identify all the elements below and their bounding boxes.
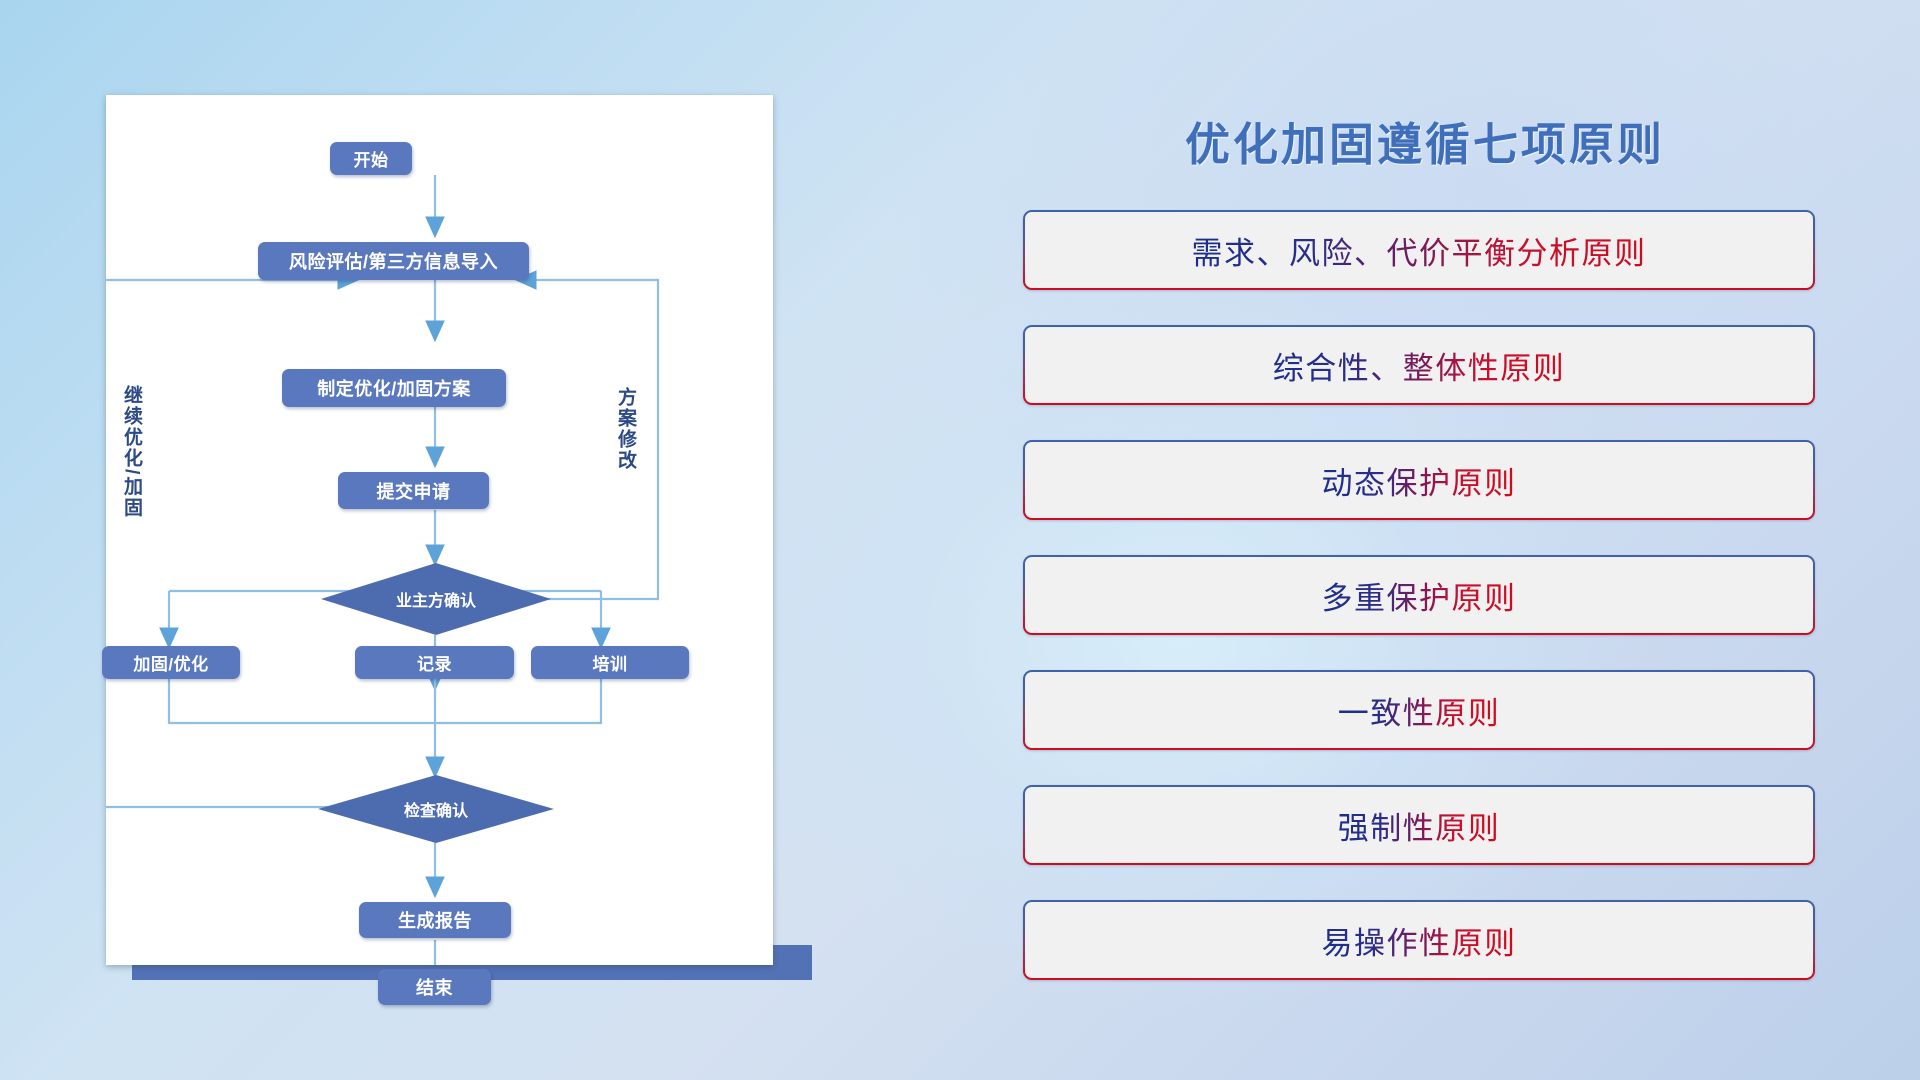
flow-node-submit[interactable]: 提交申请 bbox=[338, 472, 489, 509]
flow-node-risk-assessment[interactable]: 风险评估/第三方信息导入 bbox=[258, 242, 529, 280]
flow-decision-check-confirm[interactable]: 检查确认 bbox=[318, 775, 554, 843]
flow-node-record-label: 记录 bbox=[417, 650, 452, 675]
principle-item[interactable]: 强制性原则 bbox=[1023, 785, 1815, 865]
principle-label: 一致性原则 bbox=[1338, 688, 1501, 733]
flow-node-start[interactable]: 开始 bbox=[330, 142, 412, 175]
principle-item[interactable]: 一致性原则 bbox=[1023, 670, 1815, 750]
principle-label: 易操作性原则 bbox=[1322, 918, 1517, 963]
slide-canvas: 开始 风险评估/第三方信息导入 制定优化/加固方案 提交申请 业主方确认 加固/… bbox=[0, 0, 1920, 1080]
flow-node-reinforce-label: 加固/优化 bbox=[133, 650, 208, 675]
flow-node-training[interactable]: 培训 bbox=[531, 646, 689, 679]
flow-node-plan[interactable]: 制定优化/加固方案 bbox=[282, 369, 506, 407]
flowchart: 开始 风险评估/第三方信息导入 制定优化/加固方案 提交申请 业主方确认 加固/… bbox=[106, 95, 773, 965]
flow-node-reinforce[interactable]: 加固/优化 bbox=[102, 646, 240, 679]
principle-item[interactable]: 综合性、整体性原则 bbox=[1023, 325, 1815, 405]
flow-decision-owner-confirm[interactable]: 业主方确认 bbox=[321, 563, 551, 635]
flow-node-training-label: 培训 bbox=[593, 650, 628, 675]
principle-label: 需求、风险、代价平衡分析原则 bbox=[1192, 228, 1647, 273]
flow-node-record[interactable]: 记录 bbox=[355, 646, 514, 679]
flow-decision-check-confirm-label: 检查确认 bbox=[404, 797, 468, 821]
flow-node-submit-label: 提交申请 bbox=[377, 478, 451, 504]
flow-edge-label-right-loop: 方案修改 bbox=[616, 387, 635, 471]
principle-label: 动态保护原则 bbox=[1322, 458, 1517, 503]
flow-node-risk-assessment-label: 风险评估/第三方信息导入 bbox=[289, 248, 498, 274]
panel-title: 优化加固遵循七项原则 bbox=[1020, 108, 1830, 173]
principles-list: 需求、风险、代价平衡分析原则 综合性、整体性原则 动态保护原则 多重保护原则 一… bbox=[1023, 210, 1815, 1015]
flow-node-plan-label: 制定优化/加固方案 bbox=[317, 375, 471, 401]
principle-label: 多重保护原则 bbox=[1322, 573, 1517, 618]
principle-label: 强制性原则 bbox=[1338, 803, 1501, 848]
flow-decision-owner-confirm-label: 业主方确认 bbox=[396, 587, 476, 611]
flow-node-end[interactable]: 结束 bbox=[378, 969, 491, 1005]
principles-panel: 优化加固遵循七项原则 需求、风险、代价平衡分析原则 综合性、整体性原则 动态保护… bbox=[1020, 90, 1830, 1020]
principle-item[interactable]: 易操作性原则 bbox=[1023, 900, 1815, 980]
flow-node-report-label: 生成报告 bbox=[398, 907, 472, 933]
flow-edge-label-left-loop: 继续优化/加固 bbox=[122, 385, 141, 518]
principle-item[interactable]: 需求、风险、代价平衡分析原则 bbox=[1023, 210, 1815, 290]
flow-node-start-label: 开始 bbox=[354, 146, 389, 171]
principle-label: 综合性、整体性原则 bbox=[1273, 343, 1566, 388]
principle-item[interactable]: 动态保护原则 bbox=[1023, 440, 1815, 520]
flow-node-report[interactable]: 生成报告 bbox=[359, 902, 511, 938]
principle-item[interactable]: 多重保护原则 bbox=[1023, 555, 1815, 635]
flow-node-end-label: 结束 bbox=[416, 974, 453, 1000]
